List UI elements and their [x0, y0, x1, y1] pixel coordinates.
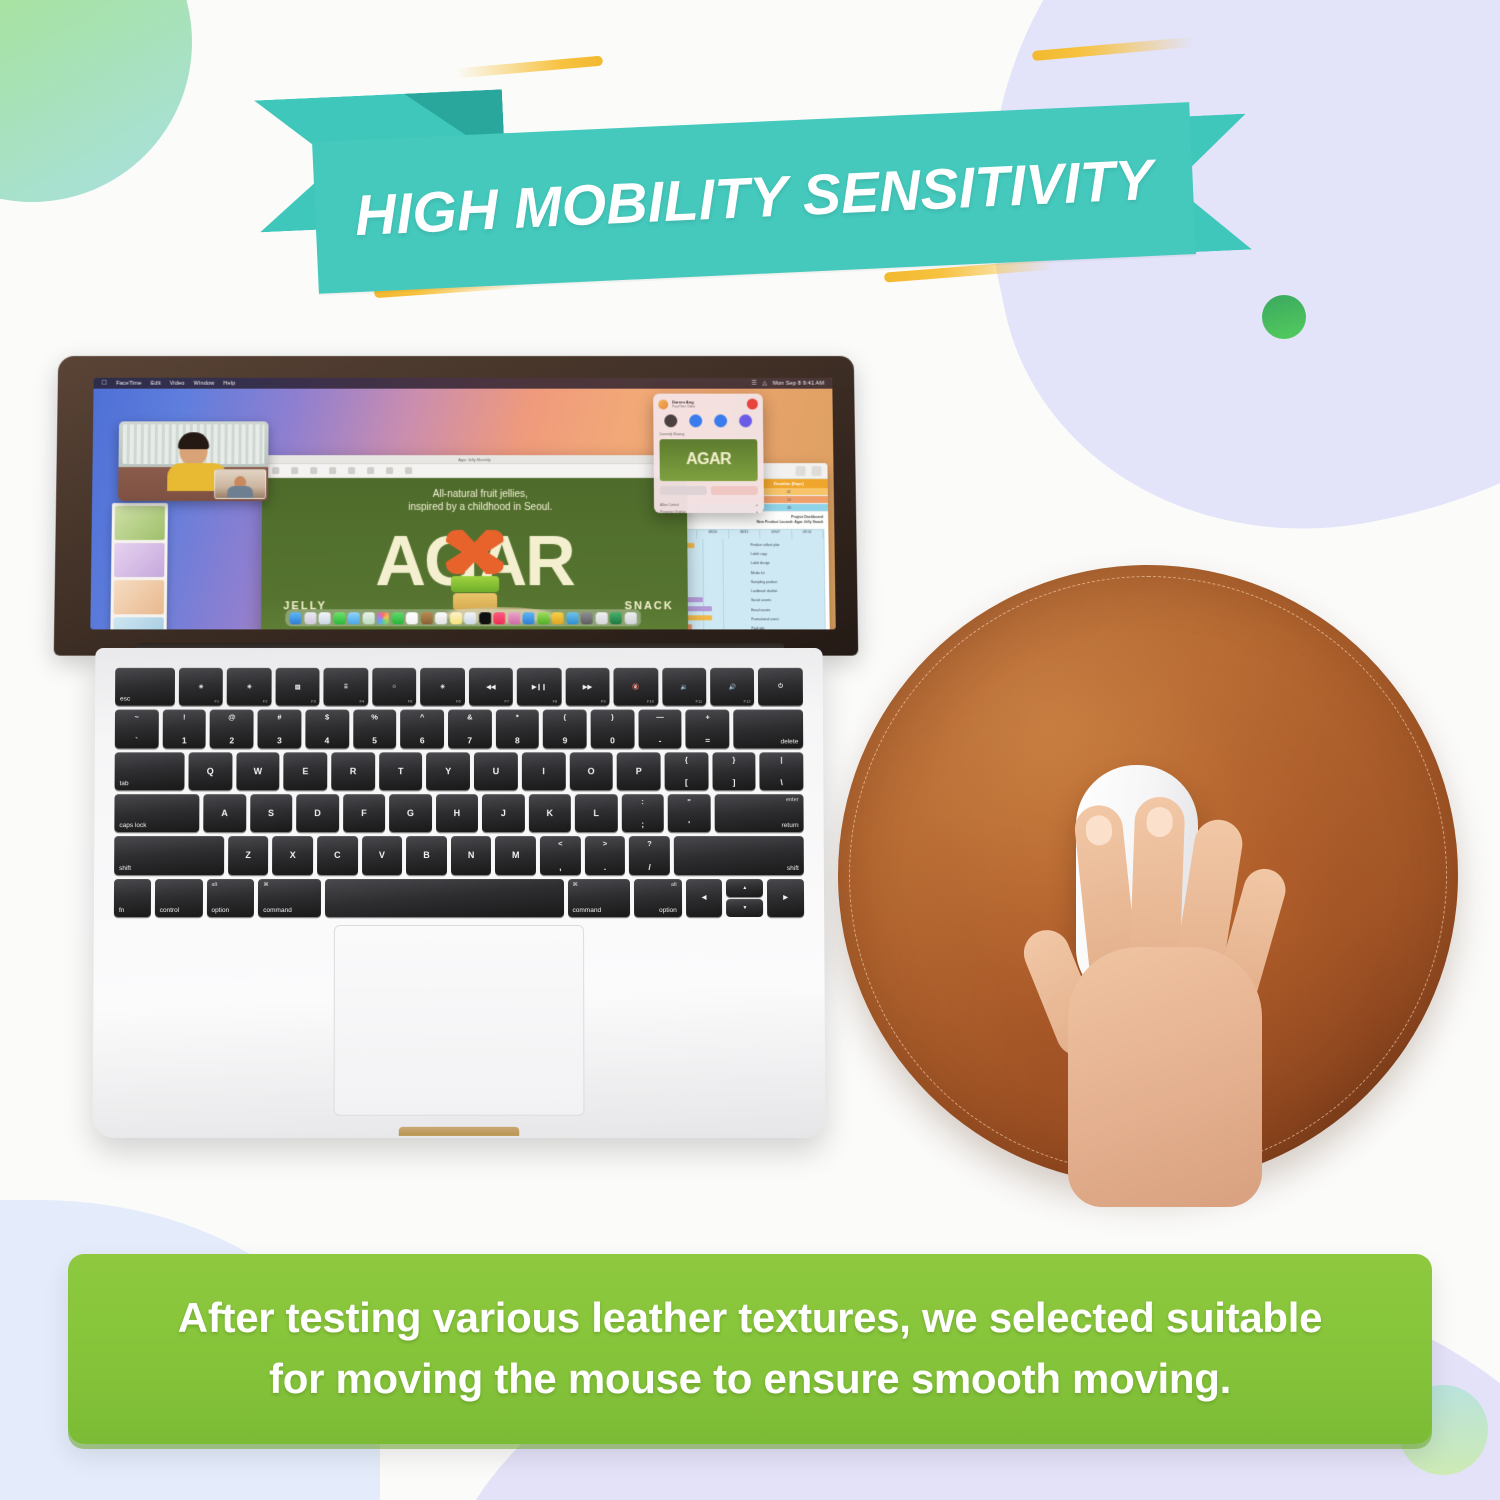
- macos-desktop:  FaceTime Edit Video Window Help ☰ △ Mo…: [90, 378, 835, 630]
- caption-banner: After testing various leather textures, …: [68, 1254, 1432, 1444]
- headline-ribbon-banner: HIGH MOBILITY SENSITIVITY: [253, 38, 1252, 313]
- kn-tool-icon[interactable]: [329, 467, 336, 474]
- podcasts-icon[interactable]: [508, 612, 520, 624]
- jelly-green-cube: [450, 576, 498, 592]
- key-command-left[interactable]: ⌘command: [258, 879, 321, 917]
- shared-window-thumbnail[interactable]: AGAR: [659, 439, 757, 481]
- gantt-task-labels: Finalize rollout plan Label copy Label d…: [747, 541, 825, 630]
- macbook-illustration:  FaceTime Edit Video Window Help ☰ △ Mo…: [28, 355, 828, 1175]
- gantt-task: Email assets: [748, 606, 824, 615]
- key-s[interactable]: S: [250, 794, 293, 832]
- person-on-call: [167, 435, 219, 491]
- stop-sharing-button[interactable]: [711, 486, 758, 495]
- macos-menubar[interactable]:  FaceTime Edit Video Window Help ☰ △ Mo…: [94, 378, 833, 389]
- pages-icon[interactable]: [566, 612, 578, 624]
- key-3[interactable]: #3: [258, 710, 302, 748]
- gantt-task: Paid ads: [748, 625, 824, 630]
- messages-icon[interactable]: [333, 612, 345, 624]
- key-6[interactable]: ^6: [400, 710, 444, 748]
- key-f[interactable]: F: [343, 794, 386, 832]
- reminders-icon[interactable]: [435, 612, 447, 624]
- key-delete[interactable]: delete: [733, 710, 803, 748]
- keynote-window[interactable]: Agar Jelly Monthly All-natural fruit jel…: [261, 455, 689, 629]
- contacts-icon[interactable]: [421, 612, 433, 624]
- key-k[interactable]: K: [529, 794, 572, 832]
- key-1[interactable]: !1: [162, 710, 206, 748]
- key-b[interactable]: B: [406, 836, 447, 874]
- mousepad-scene: [838, 565, 1474, 1225]
- key-arrow-up[interactable]: ▲: [726, 879, 763, 897]
- safari-icon[interactable]: [319, 612, 331, 624]
- key-8[interactable]: *8: [496, 710, 540, 748]
- caption-text: After testing various leather textures, …: [155, 1288, 1345, 1410]
- key-n[interactable]: N: [451, 836, 492, 874]
- fingernail: [1146, 807, 1173, 838]
- key-2[interactable]: @2: [210, 710, 254, 748]
- key-i[interactable]: I: [522, 752, 566, 790]
- sidebar-notes-window: [110, 503, 168, 629]
- key-f10-mute[interactable]: 🔇F10: [614, 668, 658, 706]
- key-z[interactable]: Z: [228, 836, 269, 874]
- key-semicolon[interactable]: :;: [621, 794, 664, 832]
- slide-headline-line1: All-natural fruit jellies,: [408, 488, 552, 501]
- key-arrow-right[interactable]: ▶: [767, 879, 804, 917]
- key-w[interactable]: W: [236, 752, 280, 790]
- keyboard-shift-row[interactable]: shift Z X C V B N M <, >. ?/ shift: [114, 836, 804, 874]
- key-f5-keyboard-light-down[interactable]: ☼F5: [372, 668, 416, 706]
- freeform-icon[interactable]: [464, 612, 476, 624]
- facetime-self-video[interactable]: [118, 421, 269, 501]
- facetime-action-row[interactable]: [653, 411, 763, 432]
- gantt-task: Sampling product: [748, 578, 824, 587]
- person-head: [179, 435, 207, 465]
- key-arrow-updown-stack[interactable]: ▲ ▼: [726, 879, 763, 917]
- key-h[interactable]: H: [436, 794, 478, 832]
- wifi-icon[interactable]: △: [762, 380, 766, 386]
- finder-icon[interactable]: [290, 612, 302, 624]
- facetime-participant-tile[interactable]: [214, 469, 266, 499]
- appstore-icon[interactable]: [523, 612, 535, 624]
- settings-icon[interactable]: [581, 612, 593, 624]
- laptop-lid:  FaceTime Edit Video Window Help ☰ △ Mo…: [54, 356, 859, 656]
- trackpad[interactable]: [334, 925, 585, 1116]
- video-icon[interactable]: [689, 414, 702, 427]
- note-thumb-2: [114, 543, 165, 577]
- laptop-base: esc ☀F1 ☀F2 ▤F3 ⠿F4 ☼F5 ☀F6 ◀◀F7 ▶❙❙F8 ▶…: [93, 648, 826, 1138]
- key-m[interactable]: M: [495, 836, 536, 874]
- key-caps-lock[interactable]: caps lock: [114, 794, 199, 832]
- toolbar-icon-4[interactable]: [795, 466, 805, 476]
- mute-icon[interactable]: [664, 414, 677, 427]
- sharing-label: Currently Sharing: [653, 432, 763, 439]
- key-e[interactable]: E: [284, 752, 328, 790]
- control-center-icon[interactable]: ☰: [751, 380, 756, 386]
- key-5[interactable]: %5: [353, 710, 397, 748]
- key-command-right[interactable]: ⌘command: [568, 879, 631, 917]
- key-c[interactable]: C: [317, 836, 358, 874]
- mail-icon[interactable]: [348, 612, 360, 624]
- appletv-icon[interactable]: [479, 612, 491, 624]
- keynote-slide: All-natural fruit jellies, inspired by a…: [261, 478, 689, 629]
- gantt-task: Finalize rollout plan: [747, 541, 823, 550]
- facetime-caller-header: Darren Ang FaceTime Video: [653, 394, 763, 412]
- kn-tool-icon[interactable]: [291, 467, 298, 474]
- keyboard-function-row[interactable]: esc ☀F1 ☀F2 ▤F3 ⠿F4 ☼F5 ☀F6 ◀◀F7 ▶❙❙F8 ▶…: [115, 668, 803, 706]
- key-comma[interactable]: <,: [540, 836, 581, 874]
- menubar-status-area[interactable]: ☰ △ Mon Sep 8 9:41 AM: [751, 380, 824, 386]
- key-d[interactable]: D: [296, 794, 339, 832]
- key-q[interactable]: Q: [188, 752, 232, 790]
- key-f2-brightness-up[interactable]: ☀F2: [227, 668, 271, 706]
- calendar-icon[interactable]: [406, 612, 418, 624]
- key-f8-playpause[interactable]: ▶❙❙F8: [517, 668, 561, 706]
- note-thumb-4: [113, 617, 164, 629]
- end-call-button[interactable]: [747, 399, 758, 410]
- key-r[interactable]: R: [331, 752, 375, 790]
- keynote-titlebar[interactable]: Agar Jelly Monthly: [262, 455, 686, 464]
- key-arrow-left[interactable]: ◀: [686, 879, 723, 917]
- key-f4-launchpad[interactable]: ⠿F4: [324, 668, 368, 706]
- keyboard-bottom-row[interactable]: fn control altoption ⌘command ⌘command a…: [114, 879, 804, 917]
- key-arrow-down[interactable]: ▼: [727, 899, 764, 917]
- key-esc[interactable]: esc: [115, 668, 175, 706]
- key-quote[interactable]: "': [668, 794, 711, 832]
- share-screen-icon[interactable]: [714, 414, 727, 427]
- slide-headline: All-natural fruit jellies, inspired by a…: [408, 488, 552, 514]
- gradient-circle-top-left: [0, 0, 192, 202]
- menu-item-allow-control[interactable]: Allow Control▸: [660, 502, 758, 509]
- key-x[interactable]: X: [272, 836, 313, 874]
- green-dot-top-right: [1262, 295, 1306, 339]
- keynote-icon[interactable]: [552, 612, 564, 624]
- maps-icon[interactable]: [362, 612, 374, 624]
- lid-release-notch: [399, 1127, 519, 1136]
- key-7[interactable]: &7: [448, 710, 492, 748]
- menu-item-presenter-overlay[interactable]: Presenter Overlay▸: [660, 509, 758, 513]
- key-f1-brightness-down[interactable]: ☀F1: [179, 668, 223, 706]
- key-a[interactable]: A: [203, 794, 246, 832]
- gantt-task: Label copy: [747, 550, 823, 559]
- key-j[interactable]: J: [482, 794, 524, 832]
- key-fn[interactable]: fn: [114, 879, 151, 917]
- macos-dock[interactable]: [285, 609, 640, 626]
- gantt-date: 08/24: [697, 530, 729, 539]
- menubar-item-edit[interactable]: Edit: [151, 380, 161, 386]
- key-f3-mission-control[interactable]: ▤F3: [275, 668, 319, 706]
- key-option-left[interactable]: altoption: [206, 879, 254, 917]
- key-space[interactable]: [325, 879, 564, 917]
- key-y[interactable]: Y: [426, 752, 470, 790]
- menubar-item-facetime[interactable]: FaceTime: [116, 380, 142, 386]
- key-control[interactable]: control: [155, 879, 203, 917]
- kn-tool-icon[interactable]: [405, 467, 412, 474]
- key-minus[interactable]: —-: [638, 710, 682, 748]
- key-shift-right[interactable]: shift: [674, 836, 804, 874]
- keynote-toolbar[interactable]: [262, 464, 687, 478]
- menubar-item-video[interactable]: Video: [170, 380, 185, 386]
- music-icon[interactable]: [493, 612, 505, 624]
- kn-tool-icon[interactable]: [348, 467, 355, 474]
- gantt-task: Promotional event: [748, 615, 824, 624]
- keyboard[interactable]: esc ☀F1 ☀F2 ▤F3 ⠿F4 ☼F5 ☀F6 ◀◀F7 ▶❙❙F8 ▶…: [114, 668, 804, 917]
- key-bracket-left[interactable]: {[: [664, 752, 708, 790]
- participant-torso: [227, 486, 253, 498]
- avatar: [658, 399, 668, 409]
- note-thumb-1: [115, 506, 165, 540]
- numbers-icon[interactable]: [537, 612, 549, 624]
- key-backslash[interactable]: |\: [760, 752, 804, 790]
- key-f7-rewind[interactable]: ◀◀F7: [469, 668, 513, 706]
- gantt-date: 09/14: [792, 530, 824, 539]
- key-f12-volume-up[interactable]: 🔊F12: [710, 668, 754, 706]
- keyboard-qwerty-row[interactable]: tab Q W E R T Y U I O P {[ }] |\: [115, 752, 804, 790]
- menubar-item-help[interactable]: Help: [223, 380, 235, 386]
- numbers-toolbar-right[interactable]: [795, 466, 821, 476]
- gantt-date: 08/31: [729, 530, 761, 539]
- trash-icon[interactable]: [624, 612, 636, 624]
- notes-icon[interactable]: [450, 612, 462, 624]
- key-return[interactable]: enterreturn: [714, 794, 803, 832]
- gantt-task: Media kit: [748, 569, 824, 578]
- photos-icon[interactable]: [377, 612, 389, 624]
- hand-on-mouse: [1034, 797, 1296, 1207]
- gantt-task: Label design: [748, 559, 824, 568]
- fingernail: [1084, 814, 1113, 847]
- key-0[interactable]: )0: [591, 710, 635, 748]
- apple-logo-icon[interactable]: : [102, 380, 108, 387]
- toolbar-icon-5[interactable]: [811, 466, 821, 476]
- key-period[interactable]: >.: [585, 836, 626, 874]
- key-l[interactable]: L: [575, 794, 618, 832]
- key-tab[interactable]: tab: [115, 752, 185, 790]
- excel-icon[interactable]: [610, 612, 622, 624]
- preview-icon[interactable]: [595, 612, 607, 624]
- kn-tool-icon[interactable]: [386, 467, 393, 474]
- key-shift-left[interactable]: shift: [114, 836, 224, 874]
- person-hair: [178, 432, 209, 449]
- laptop-screen:  FaceTime Edit Video Window Help ☰ △ Mo…: [90, 378, 835, 630]
- keyboard-number-row[interactable]: ~` !1 @2 #3 $4 %5 ^6 &7 *8 (9 )0 —- += d…: [115, 710, 803, 748]
- key-f9-forward[interactable]: ▶▶F9: [565, 668, 609, 706]
- caller-status: FaceTime Video: [672, 405, 695, 409]
- kn-tool-icon[interactable]: [310, 467, 317, 474]
- key-equals[interactable]: +=: [686, 710, 730, 748]
- key-bracket-right[interactable]: }]: [712, 752, 756, 790]
- key-t[interactable]: T: [379, 752, 423, 790]
- note-thumb-3: [114, 580, 165, 614]
- facetime-popover[interactable]: Darren Ang FaceTime Video Currently Shar…: [653, 394, 764, 513]
- key-p[interactable]: P: [617, 752, 661, 790]
- facetime-icon[interactable]: [391, 612, 403, 624]
- gantt-date: 09/07: [760, 530, 792, 539]
- key-9[interactable]: (9: [543, 710, 587, 748]
- kn-tool-icon[interactable]: [367, 467, 374, 474]
- key-slash[interactable]: ?/: [629, 836, 670, 874]
- key-o[interactable]: O: [569, 752, 613, 790]
- facetime-buttons[interactable]: [654, 481, 764, 500]
- key-power[interactable]: ⏻: [758, 668, 803, 706]
- key-g[interactable]: G: [389, 794, 431, 832]
- key-f11-volume-down[interactable]: 🔉F11: [662, 668, 706, 706]
- edit-window-button[interactable]: [660, 486, 707, 495]
- key-v[interactable]: V: [362, 836, 403, 874]
- facetime-menu-list[interactable]: Allow Control▸ Presenter Overlay▸ FaceTi…: [654, 500, 764, 513]
- key-option-right[interactable]: altoption: [634, 879, 682, 917]
- key-u[interactable]: U: [474, 752, 518, 790]
- palm: [1068, 947, 1262, 1207]
- effects-icon[interactable]: [739, 414, 752, 427]
- slide-headline-line2: inspired by a childhood in Seoul.: [408, 501, 552, 514]
- jelly-x-shape: [445, 530, 503, 574]
- key-4[interactable]: $4: [305, 710, 349, 748]
- clock-label[interactable]: Mon Sep 8 9:41 AM: [773, 380, 825, 386]
- keyboard-home-row[interactable]: caps lock A S D F G H J K L :; "' enterr…: [114, 794, 803, 832]
- key-f6-keyboard-light-up[interactable]: ☀F6: [420, 668, 464, 706]
- launchpad-icon[interactable]: [304, 612, 316, 624]
- menubar-item-window[interactable]: Window: [194, 380, 215, 386]
- key-backtick[interactable]: ~`: [115, 710, 159, 748]
- gantt-task: Lookbook shotlist: [748, 587, 824, 596]
- kn-tool-icon[interactable]: [272, 467, 279, 474]
- gantt-task: Social assets: [748, 597, 824, 606]
